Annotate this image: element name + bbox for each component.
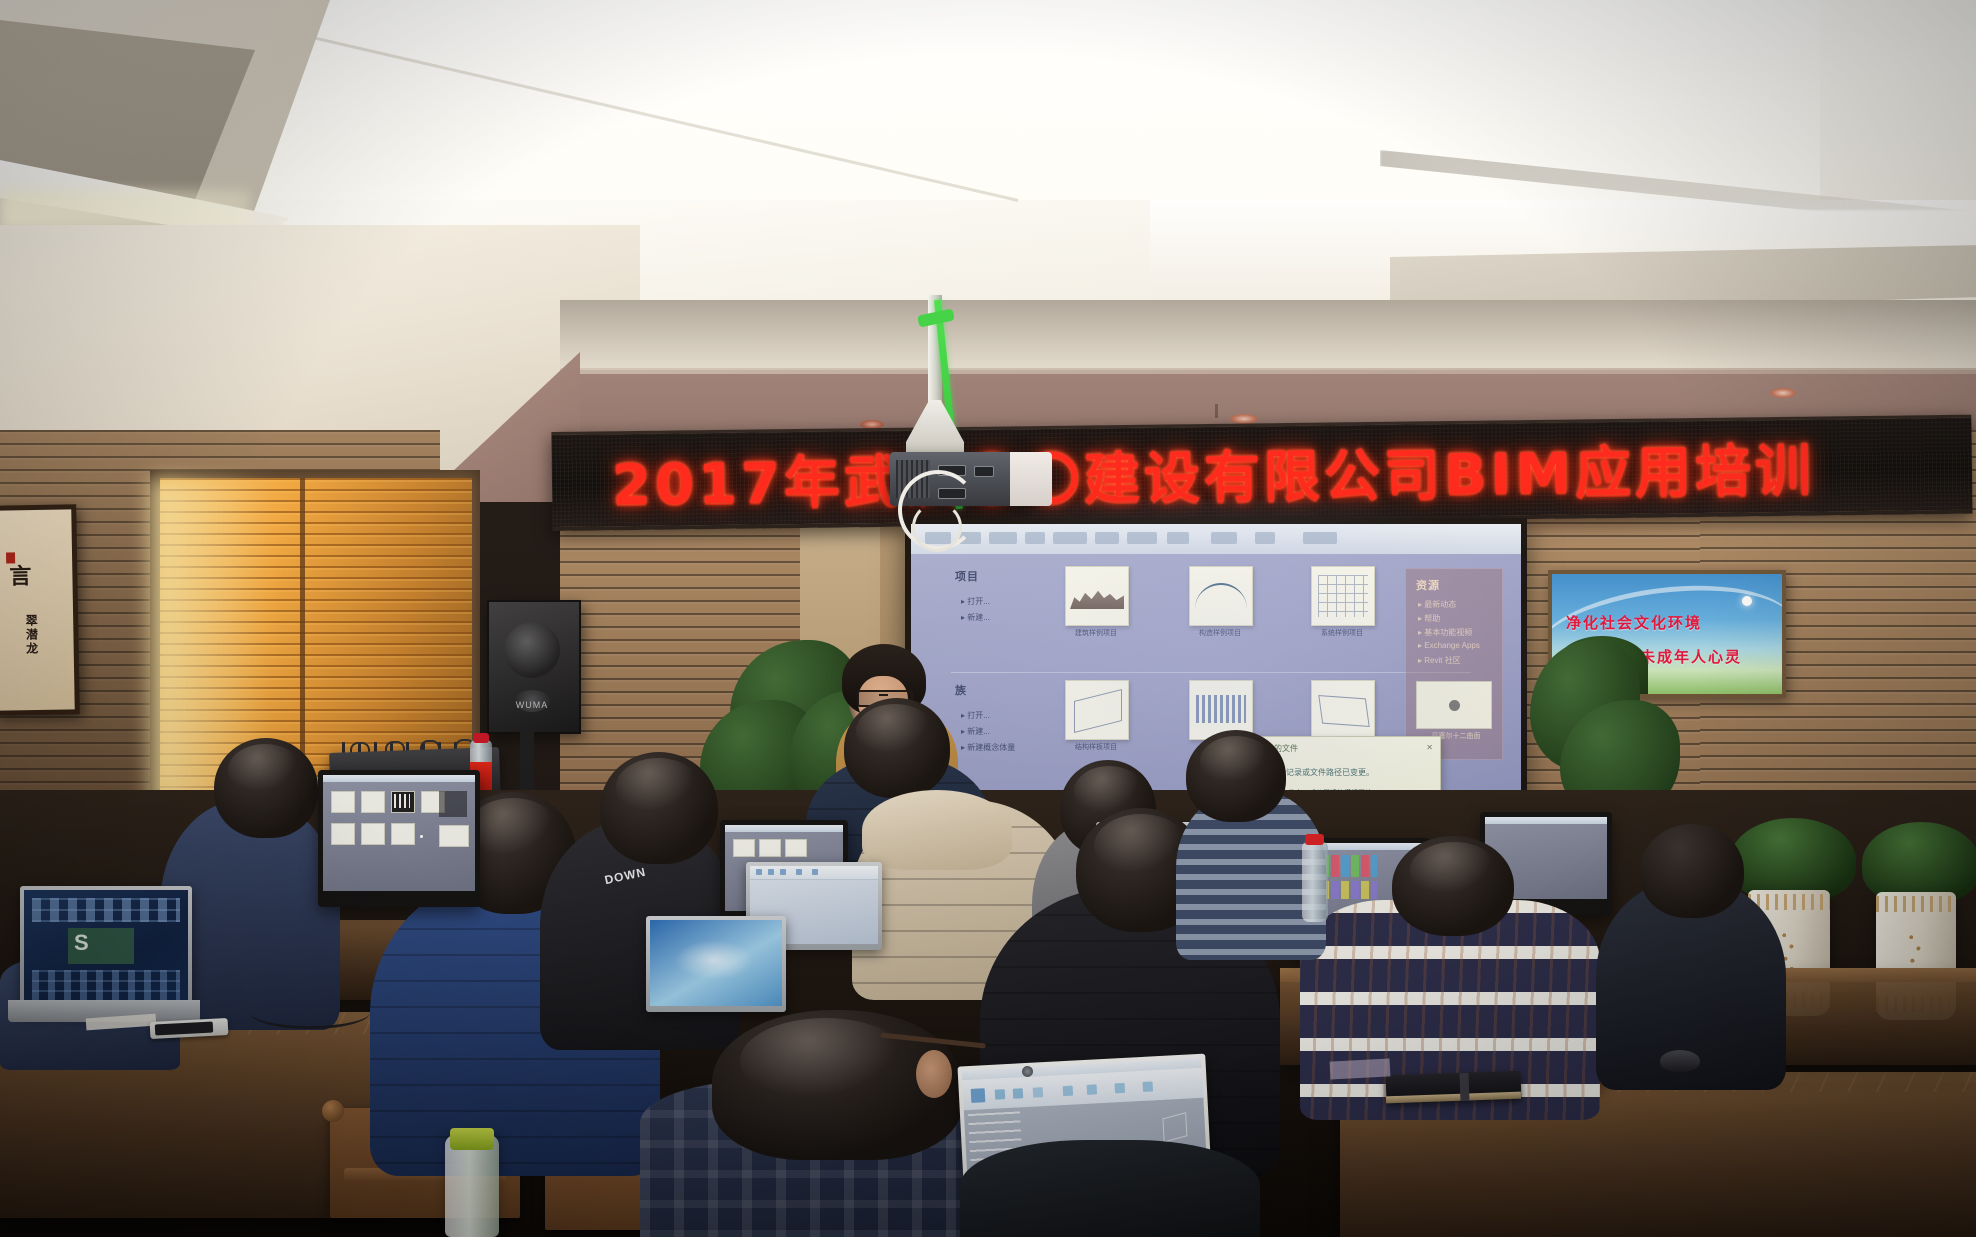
projected-resources-title: 资源 (1416, 577, 1440, 593)
attendee-beige-puffer-hood (862, 790, 1012, 870)
ribbon-icon (756, 869, 762, 875)
thumbnail-chart-mountain-icon (1070, 583, 1124, 609)
ribbon-icon[interactable] (995, 1089, 1006, 1100)
projected-section-families-item[interactable]: ▸ 新建... (961, 726, 990, 737)
speaker-woofer-icon (504, 622, 560, 678)
calligraphy-main-character: 言 (2, 564, 34, 587)
monitor-template-tile[interactable] (733, 839, 755, 857)
laptop-left-screen: S (24, 890, 188, 1008)
ribbon-icon[interactable] (1013, 1088, 1024, 1099)
ribbon-icon[interactable] (1115, 1083, 1126, 1094)
projected-template-thumbnail[interactable] (1065, 566, 1129, 626)
calligraphy-paper: 言 翠潜龙 (0, 509, 75, 710)
hair-highlight (1094, 814, 1188, 878)
laptop-left-row-screen (650, 920, 782, 1006)
monitor-tile-bars-icon (394, 794, 410, 808)
laptop-left[interactable]: S (20, 886, 192, 1014)
calligraphy-column-text: 翠潜龙 (23, 614, 41, 656)
ceiling-spot-icon (1770, 388, 1796, 398)
hair-highlight (1200, 736, 1272, 786)
notebook-strap (1460, 1073, 1470, 1101)
monitor-template-tile[interactable] (759, 839, 781, 857)
papers-on-desk-right (1330, 1058, 1391, 1079)
monitor-template-tile[interactable] (361, 791, 385, 813)
attendee-plaid-shoulder-overlap (960, 1140, 1260, 1237)
cove-light (0, 190, 250, 230)
wall-shadow-band (560, 300, 1976, 372)
attendee-right-edge-head (1640, 824, 1744, 918)
ribbon-icon[interactable] (1143, 1081, 1154, 1092)
bottle-cap (473, 733, 489, 743)
ribbon-tab (1303, 532, 1337, 544)
projected-template-caption: 结构样板项目 (1059, 742, 1133, 752)
projected-resource-item[interactable]: ▸ 帮助 (1418, 613, 1440, 624)
ribbon-icon[interactable] (971, 1088, 986, 1103)
projected-resource-item[interactable]: ▸ Exchange Apps (1418, 641, 1480, 650)
sprinkler-icon (1215, 404, 1218, 418)
cable-on-desk (250, 996, 370, 1029)
hair-highlight (616, 758, 700, 816)
framed-calligraphy: 言 翠潜龙 (0, 504, 80, 715)
projected-template-thumbnail[interactable] (1189, 566, 1253, 626)
ribbon-tab (1167, 532, 1189, 544)
laptop-wallpaper-glow (674, 940, 754, 980)
monitor-titlebar (1485, 817, 1607, 824)
foreground-bottle-cap (450, 1128, 494, 1150)
hair-highlight (228, 744, 302, 796)
projected-template-thumbnail[interactable] (1065, 680, 1129, 740)
projected-section-projects-item[interactable]: ▸ 新建... (961, 612, 990, 623)
speaker-stand (520, 730, 534, 790)
ribbon-tab (1127, 532, 1157, 544)
monitor-cursor-icon (420, 835, 423, 838)
thumbnail-iso-beam-icon (1318, 695, 1369, 727)
hair-highlight (856, 704, 934, 758)
monitor-template-tile[interactable] (439, 825, 469, 847)
ribbon-icon (780, 869, 786, 875)
desktop-monitor-left[interactable] (318, 770, 480, 907)
monitor-resources-panel (439, 791, 467, 817)
projected-dialog-close-icon[interactable]: ✕ (1426, 743, 1433, 752)
hair-highlight (468, 798, 558, 860)
projected-section-families-item[interactable]: ▸ 新建概念体量 (961, 742, 1015, 753)
projected-template-thumbnail[interactable] (1311, 566, 1375, 626)
wall-rose-edge (560, 368, 1976, 374)
ribbon-icon (812, 869, 818, 875)
ribbon-tab (1053, 532, 1087, 544)
projected-resource-item[interactable]: ▸ Revit 社区 (1418, 655, 1461, 666)
laptop-ribbon (750, 866, 878, 880)
chair-knob (322, 1100, 344, 1122)
projector-cable-loop-inner (912, 502, 962, 552)
presenter-glasses-bridge (879, 694, 888, 696)
thumbnail-chart-curve-icon (1195, 583, 1247, 609)
projected-template-caption: 构造样例项目 (1183, 628, 1257, 638)
projected-template-thumbnail[interactable] (1311, 680, 1375, 740)
hair-highlight (1410, 842, 1498, 898)
ribbon-tab (989, 532, 1017, 544)
projected-resource-item[interactable]: ▸ 基本功能视频 (1418, 627, 1472, 638)
calligraphy-seal (6, 552, 15, 563)
monitor-template-tile[interactable] (331, 823, 355, 845)
mouse-on-desk[interactable] (1660, 1050, 1700, 1072)
projected-divider (951, 672, 1471, 673)
ribbon-tab (1255, 532, 1275, 544)
thumbnail-chart-grid-icon (1318, 575, 1368, 617)
laptop-screen-text-lines-lower (32, 970, 180, 1000)
laptop-screen-text-lines (32, 898, 180, 922)
monitor-titlebar (725, 825, 843, 832)
hair-highlight (740, 1018, 910, 1104)
resource-thumb-dot-icon (1449, 700, 1460, 711)
poster-line-1: 净化社会文化环境 (1566, 612, 1702, 633)
thumbnail-iso-plane-icon (1074, 689, 1122, 733)
thumbnail-bars-icon (1196, 695, 1246, 723)
monitor-template-tile[interactable] (361, 823, 385, 845)
desktop-monitor-left-screen (323, 775, 475, 891)
ribbon-icon[interactable] (1063, 1086, 1074, 1097)
attendee-plaid-ear (916, 1050, 952, 1098)
speaker-brand-label: WUMA (500, 700, 564, 714)
bottle-cap (1305, 834, 1324, 845)
projected-resource-thumbnail[interactable] (1416, 681, 1492, 729)
ribbon-tab (1095, 532, 1119, 544)
monitor-titlebar (323, 775, 475, 782)
projected-template-caption: 建筑样例项目 (1059, 628, 1133, 638)
ribbon-tab (1211, 532, 1237, 544)
projector-lens-housing (1010, 452, 1052, 506)
training-room-photo: 言 翠潜龙 2017年武汉〇〇建设有限公司BIM应用培训 (0, 0, 1976, 1237)
monitor-template-tile[interactable] (391, 823, 415, 845)
monitor-template-tile[interactable] (331, 791, 355, 813)
projected-section-families-item[interactable]: ▸ 打开... (961, 710, 990, 721)
laptop-screen-logo-letter: S (74, 930, 89, 956)
projected-resource-item[interactable]: ▸ 最新动态 (1418, 599, 1456, 610)
projected-app-ribbon (911, 524, 1521, 555)
planter-band-top (1876, 896, 1956, 912)
led-banner: 2017年武汉〇〇建设有限公司BIM应用培训 (551, 415, 1972, 531)
poster-star-icon (1742, 596, 1752, 606)
projector-hdmi-port-icon (974, 466, 994, 477)
ribbon-icon (768, 869, 774, 875)
water-bottle-right (1302, 842, 1328, 922)
monitor-template-tile[interactable] (785, 839, 807, 857)
foreground-bottle (445, 1135, 499, 1237)
laptop-left-row[interactable] (646, 916, 786, 1012)
projected-section-projects-title: 项目 (955, 568, 979, 584)
led-banner-text: 2017年武汉〇〇建设有限公司BIM应用培训 (612, 424, 1963, 520)
ribbon-icon[interactable] (1033, 1087, 1044, 1098)
ribbon-icon[interactable] (1087, 1084, 1098, 1095)
projected-template-caption: 系统样例项目 (1305, 628, 1379, 638)
projected-section-projects-item[interactable]: ▸ 打开... (961, 596, 990, 607)
ribbon-tab (1025, 532, 1045, 544)
projected-resources-panel: 资源 ▸ 最新动态 ▸ 帮助 ▸ 基本功能视频 ▸ Exchange Apps … (1405, 568, 1503, 760)
ribbon-icon (796, 869, 802, 875)
projected-section-families-title: 族 (955, 682, 967, 698)
